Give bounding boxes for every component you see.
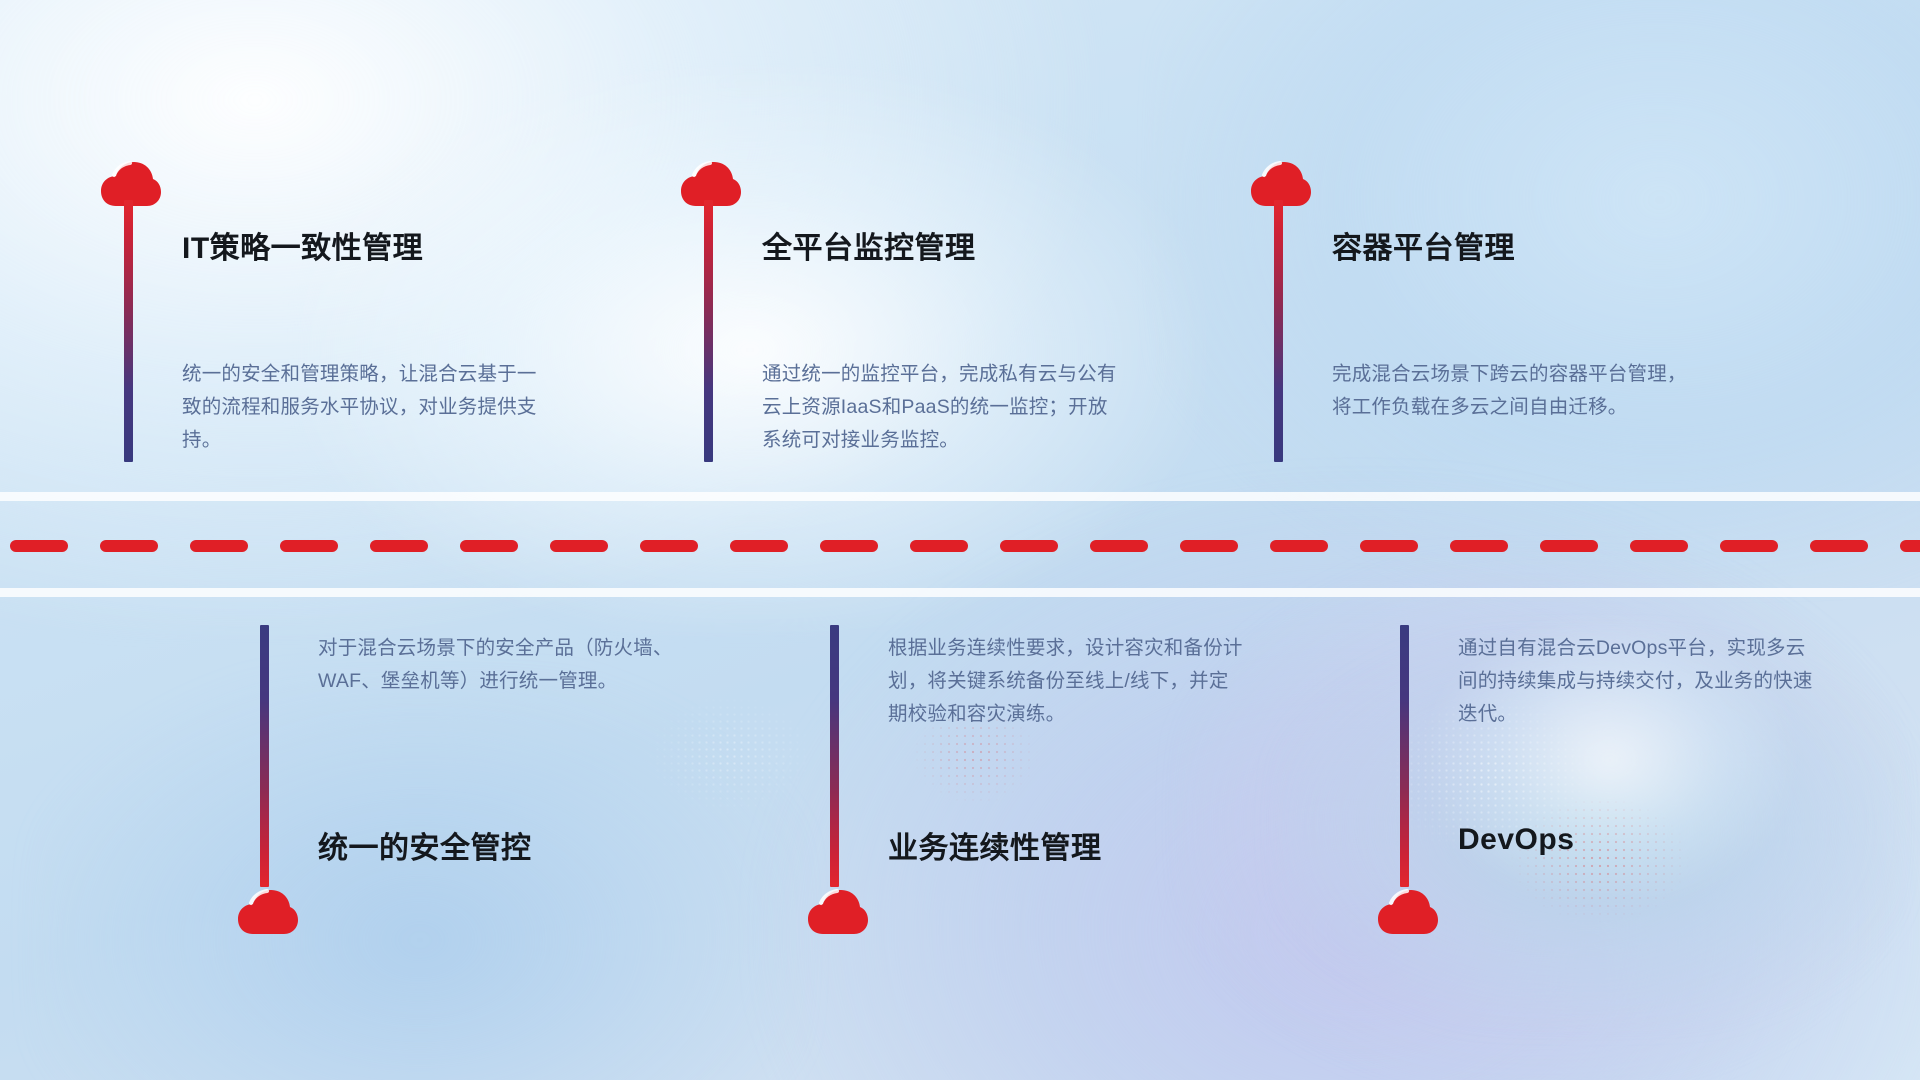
dot-cluster-decoration (640, 690, 820, 820)
dash-segment (100, 540, 158, 552)
cloud-icon (1377, 888, 1439, 936)
dash-segment (1810, 540, 1868, 552)
card-body: 对于混合云场景下的安全产品（防火墙、WAF、堡垒机等）进行统一管理。 (318, 632, 678, 698)
card-title: IT策略一致性管理 (182, 223, 423, 267)
card-body: 完成混合云场景下跨云的容器平台管理，将工作负载在多云之间自由迁移。 (1332, 358, 1692, 424)
card-title: 全平台监控管理 (762, 223, 976, 267)
dash-segment (1270, 540, 1328, 552)
dash-segment (1360, 540, 1418, 552)
dash-segment (1450, 540, 1508, 552)
dash-segment (1180, 540, 1238, 552)
cloud-icon (807, 888, 869, 936)
card-title: 统一的安全管控 (318, 823, 532, 867)
card-stem (124, 200, 133, 462)
cloud-icon (237, 888, 299, 936)
infographic-canvas: IT策略一致性管理 统一的安全和管理策略，让混合云基于一致的流程和服务水平协议，… (0, 0, 1920, 1080)
dashed-separator (0, 540, 1920, 552)
card-stem (1400, 625, 1409, 887)
dash-segment (1540, 540, 1598, 552)
dash-segment (820, 540, 878, 552)
dash-segment (460, 540, 518, 552)
dash-segment (370, 540, 428, 552)
card-stem (830, 625, 839, 887)
card-body: 通过统一的监控平台，完成私有云与公有云上资源IaaS和PaaS的统一监控；开放系… (762, 358, 1122, 457)
dash-segment (640, 540, 698, 552)
card-title: 业务连续性管理 (888, 823, 1102, 867)
card-body: 统一的安全和管理策略，让混合云基于一致的流程和服务水平协议，对业务提供支持。 (182, 358, 542, 457)
divider-line-bottom (0, 588, 1920, 597)
dash-segment (1720, 540, 1778, 552)
card-stem (704, 200, 713, 462)
dash-segment (1000, 540, 1058, 552)
dash-segment (280, 540, 338, 552)
dash-segment (190, 540, 248, 552)
dash-segment (10, 540, 68, 552)
dash-segment (1090, 540, 1148, 552)
divider-line-top (0, 492, 1920, 501)
card-title: 容器平台管理 (1332, 223, 1515, 267)
card-body: 根据业务连续性要求，设计容灾和备份计划，将关键系统备份至线上/线下，并定期校验和… (888, 632, 1248, 731)
card-stem (1274, 200, 1283, 462)
dash-segment (1900, 540, 1920, 552)
card-stem (260, 625, 269, 887)
dash-segment (1630, 540, 1688, 552)
dot-cluster-decoration-red (1500, 790, 1700, 930)
dash-segment (910, 540, 968, 552)
card-title: DevOps (1458, 823, 1574, 857)
dash-segment (730, 540, 788, 552)
dash-segment (550, 540, 608, 552)
card-body: 通过自有混合云DevOps平台，实现多云间的持续集成与持续交付，及业务的快速迭代… (1458, 632, 1818, 731)
